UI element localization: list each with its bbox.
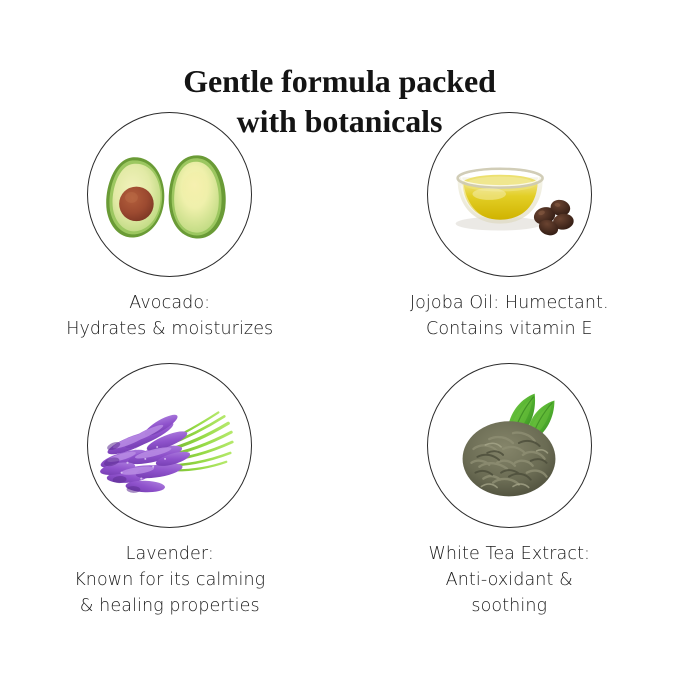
page-title-line-1: Gentle formula packed — [0, 61, 679, 101]
ingredient-caption-avocado: Avocado: Hydrates & moisturizes — [66, 290, 273, 343]
avocado-halves-icon — [88, 113, 251, 276]
caption-line-1: Lavender: — [74, 541, 265, 567]
ingredient-caption-lavender: Lavender: Known for its calming & healin… — [74, 541, 265, 620]
caption-line-2: Contains vitamin E — [410, 316, 609, 342]
ingredient-caption-jojoba: Jojoba Oil: Humectant. Contains vitamin … — [410, 290, 609, 343]
jojoba-oil-bowl-icon — [428, 113, 591, 276]
ingredient-image-circle-whitetea — [427, 363, 592, 528]
ingredients-infographic: Gentle formula packed with botanicals — [0, 0, 679, 679]
ingredient-image-circle-avocado — [87, 112, 252, 277]
white-tea-leaves-icon — [428, 364, 591, 527]
ingredient-caption-whitetea: White Tea Extract: Anti-oxidant & soothi… — [428, 541, 590, 620]
ingredient-grid: Avocado: Hydrates & moisturizes — [0, 112, 679, 619]
caption-line-1: White Tea Extract: — [428, 541, 590, 567]
caption-line-3: soothing — [428, 593, 590, 619]
ingredient-image-circle-jojoba — [427, 112, 592, 277]
caption-line-2: Known for its calming — [74, 567, 265, 593]
caption-line-1: Jojoba Oil: Humectant. — [410, 290, 609, 316]
caption-line-3: & healing properties — [74, 593, 265, 619]
caption-line-2: Anti-oxidant & — [428, 567, 590, 593]
caption-line-2: Hydrates & moisturizes — [66, 316, 273, 342]
caption-line-1: Avocado: — [66, 290, 273, 316]
lavender-bouquet-icon — [88, 364, 251, 527]
ingredient-card-lavender: Lavender: Known for its calming & healin… — [0, 349, 340, 620]
ingredient-card-jojoba: Jojoba Oil: Humectant. Contains vitamin … — [340, 112, 679, 343]
ingredient-image-circle-lavender — [87, 363, 252, 528]
ingredient-card-avocado: Avocado: Hydrates & moisturizes — [0, 112, 340, 343]
ingredient-card-whitetea: White Tea Extract: Anti-oxidant & soothi… — [340, 349, 679, 620]
